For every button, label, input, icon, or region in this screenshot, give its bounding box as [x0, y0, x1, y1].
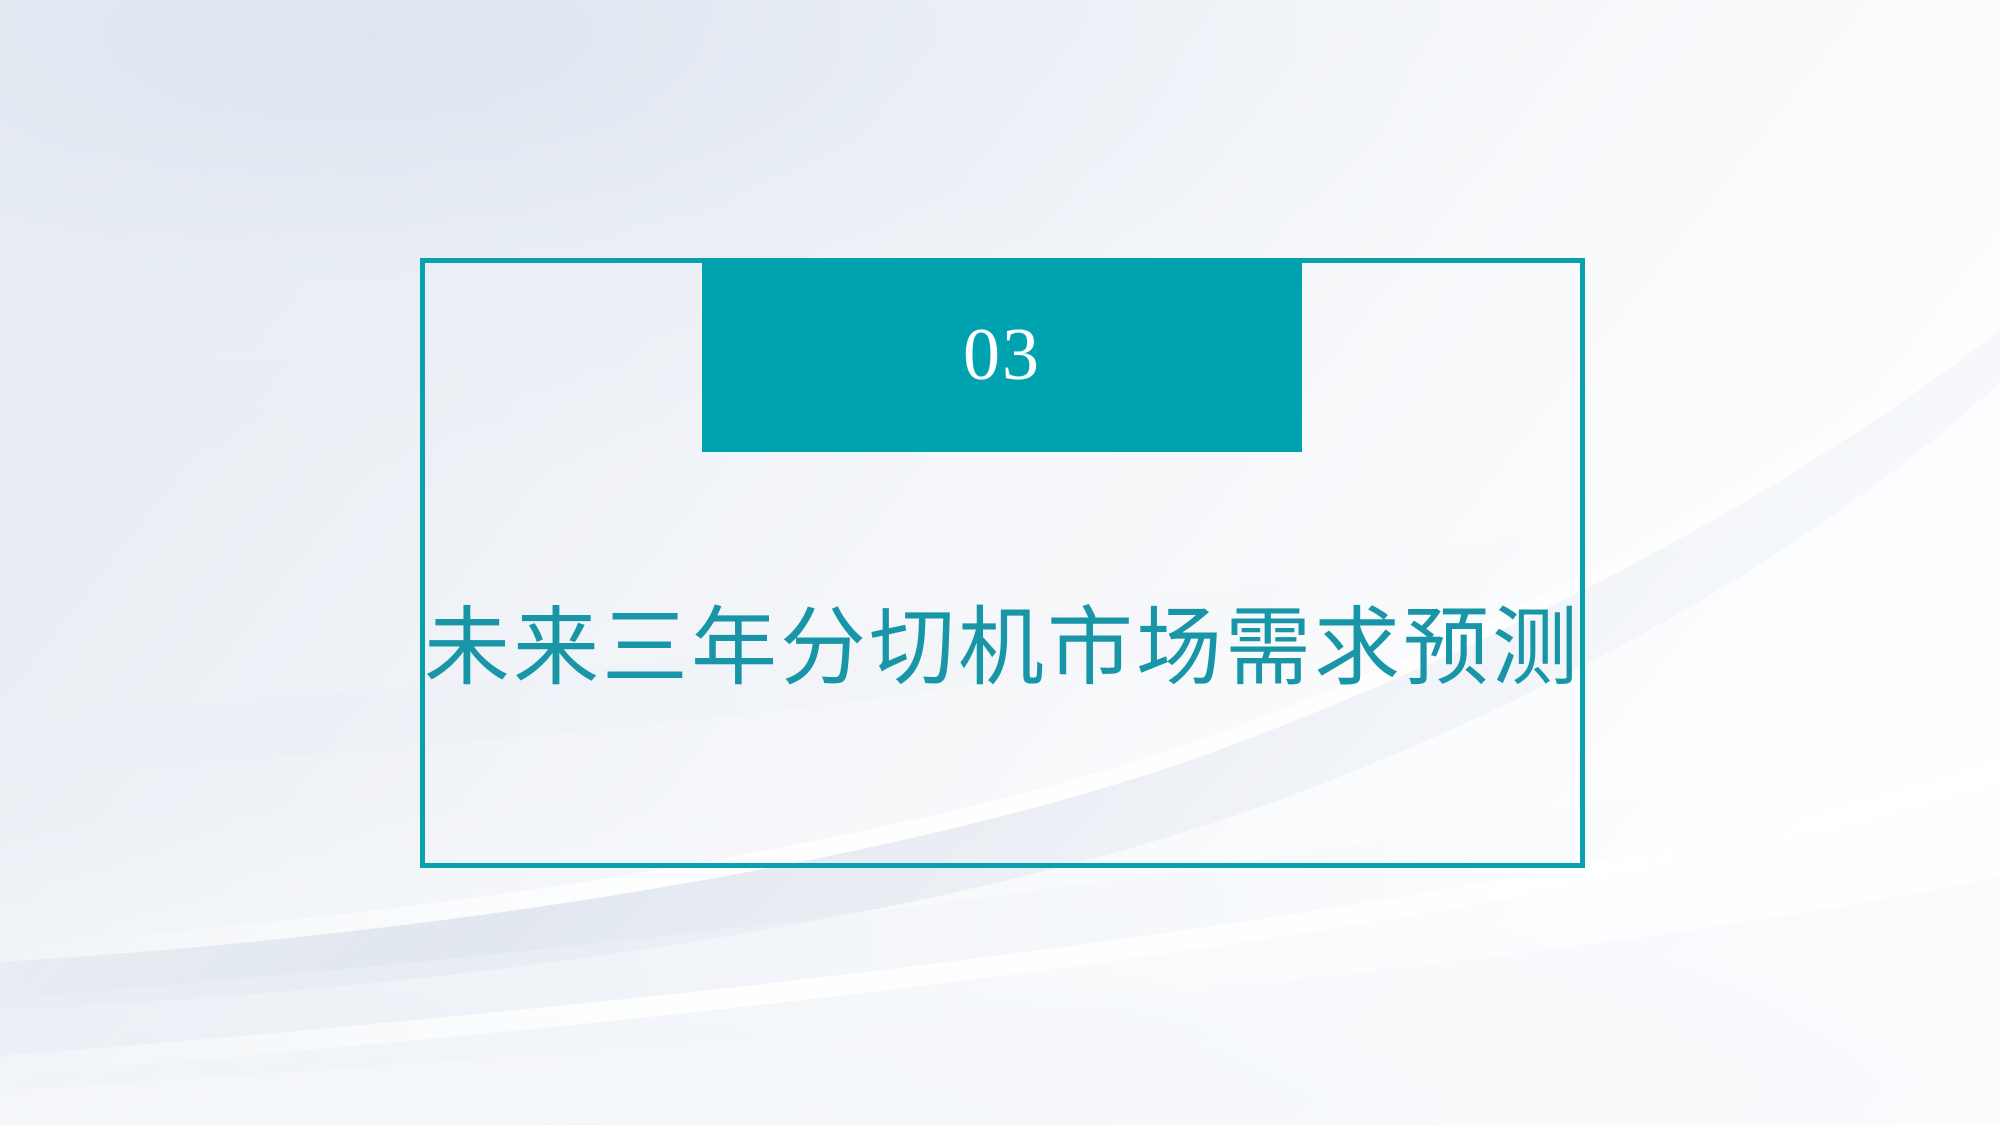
section-number: 03: [963, 318, 1041, 392]
section-title: 未来三年分切机市场需求预测: [420, 600, 1585, 696]
slide-canvas: 03 未来三年分切机市场需求预测: [0, 0, 2000, 1125]
section-number-block: 03: [702, 258, 1302, 452]
